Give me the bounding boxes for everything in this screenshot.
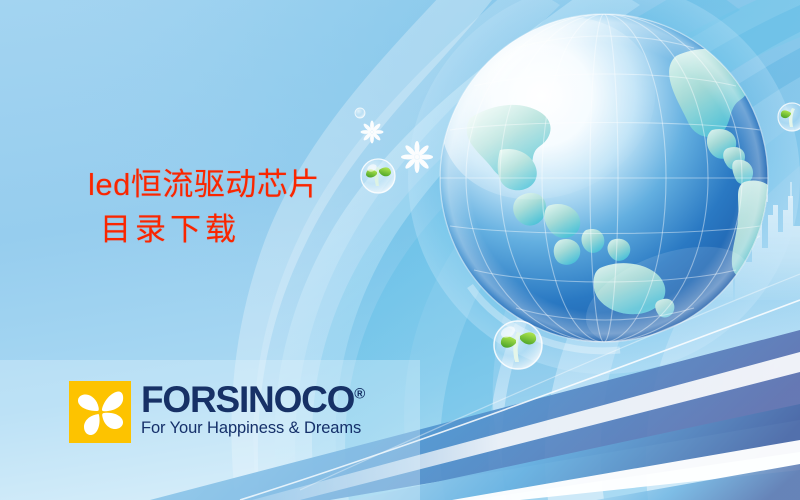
brand-tagline: For Your Happiness & Dreams: [141, 419, 361, 438]
bubble-sprout-low: [494, 321, 542, 369]
headline-line-2: 目录下载: [88, 208, 320, 253]
flower-small-icon: [361, 121, 384, 144]
brand-name-text: FORSINOCO: [141, 379, 354, 420]
headline-line-1: led恒流驱动芯片: [88, 163, 320, 208]
promo-banner: led恒流驱动芯片 目录下载 FORSINOCO® For Your Happi…: [0, 0, 800, 500]
brand-name: FORSINOCO®: [141, 382, 365, 418]
bubble-sprout-mid: [361, 159, 395, 193]
flower-large-icon: [401, 141, 433, 173]
headline-block: led恒流驱动芯片 目录下载: [88, 163, 320, 253]
brand-logo-lockup: FORSINOCO® For Your Happiness & Dreams: [69, 381, 365, 443]
logo-mark-background: [69, 381, 131, 443]
forsinoco-pinwheel-mark: [69, 381, 131, 443]
registered-trademark-icon: ®: [354, 386, 365, 403]
logo-text-block: FORSINOCO® For Your Happiness & Dreams: [141, 382, 365, 438]
earth-globe-graphic: [408, 0, 800, 374]
bubble-right-edge: [778, 103, 800, 131]
bubble-small-top: [355, 108, 365, 118]
